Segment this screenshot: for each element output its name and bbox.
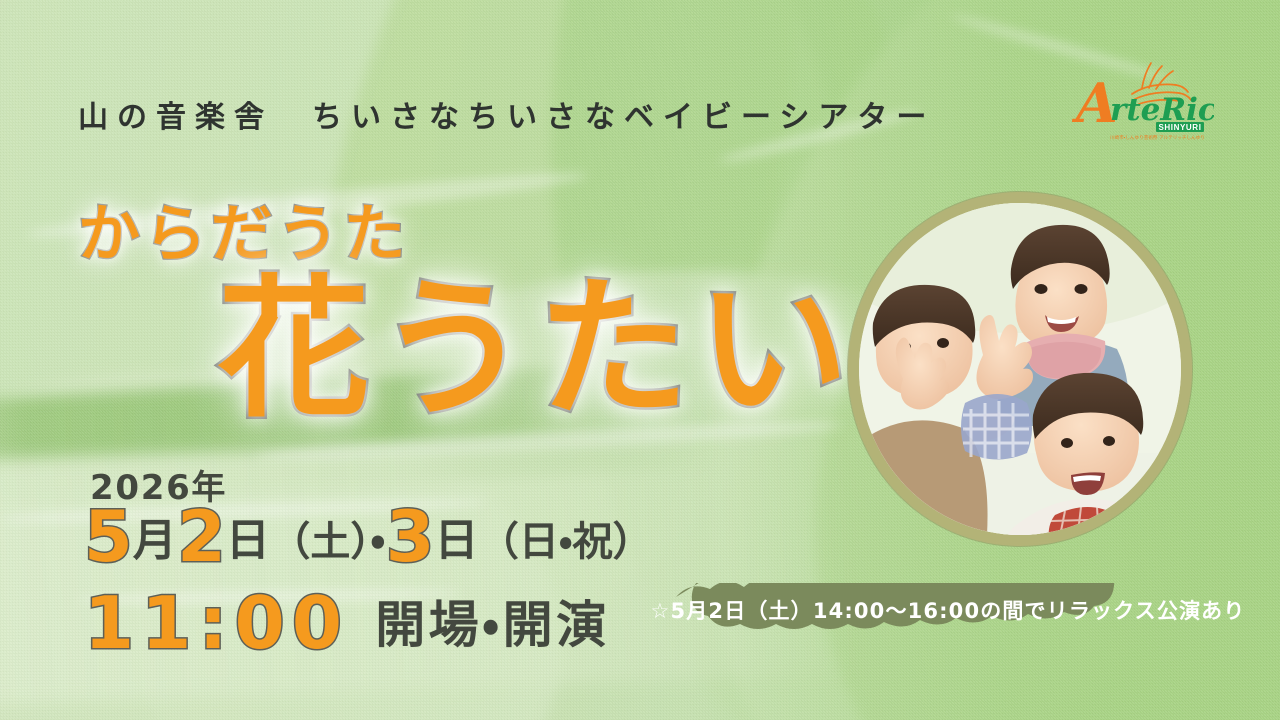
- gingham-cushion: [961, 394, 1032, 460]
- photo-illustration: [859, 203, 1181, 535]
- page-title: 花うたい: [218, 272, 856, 427]
- logo-badge-label: SHINYURI: [1158, 123, 1201, 132]
- date-month-number: 5: [84, 496, 133, 578]
- relax-performance-banner: ☆5月2日（土）14:00〜16:00の間でリラックス公演あり: [642, 583, 1254, 637]
- photo-frame: [848, 192, 1192, 546]
- poster-canvas: 山の音楽舎 ちいさなちいさなベイビーシアター A rteRicca: [0, 0, 1280, 720]
- event-time: 11:00開場・開演: [84, 587, 610, 659]
- logo-tagline: 川崎市・しんゆり芸術祭 アルテリッチしんゆり: [1110, 134, 1205, 141]
- date-separator: ・: [370, 515, 385, 566]
- relax-note-text: ☆5月2日（土）14:00〜16:00の間でリラックス公演あり: [642, 583, 1254, 637]
- logo-artwork: A rteRicca SHINYURI 川崎市・しんゆり芸術祭 アルテリッチしん…: [1072, 58, 1214, 144]
- arte-ricca-logo[interactable]: A rteRicca SHINYURI 川崎市・しんゆり芸術祭 アルテリッチしん…: [1072, 58, 1214, 144]
- date-day1-weekday: （土）: [270, 519, 370, 565]
- date-month-unit: 月: [133, 515, 177, 566]
- event-time-label: 開場・開演: [375, 596, 610, 654]
- date-day2-weekday: （日・祝）: [479, 519, 653, 565]
- kicker-title: からだうた: [78, 183, 410, 273]
- event-date: 5月2日（土）・3日（日・祝）: [84, 502, 653, 572]
- date-day2-unit: 日: [434, 515, 478, 566]
- date-day1-unit: 日: [226, 515, 270, 566]
- date-day1-number: 2: [177, 496, 226, 578]
- event-time-clock: 11:00: [84, 581, 349, 665]
- date-day2-number: 3: [386, 496, 435, 578]
- organizer-subtitle: 山の音楽舎 ちいさなちいさなベイビーシアター: [78, 92, 935, 136]
- three-babies-photo: [859, 203, 1181, 535]
